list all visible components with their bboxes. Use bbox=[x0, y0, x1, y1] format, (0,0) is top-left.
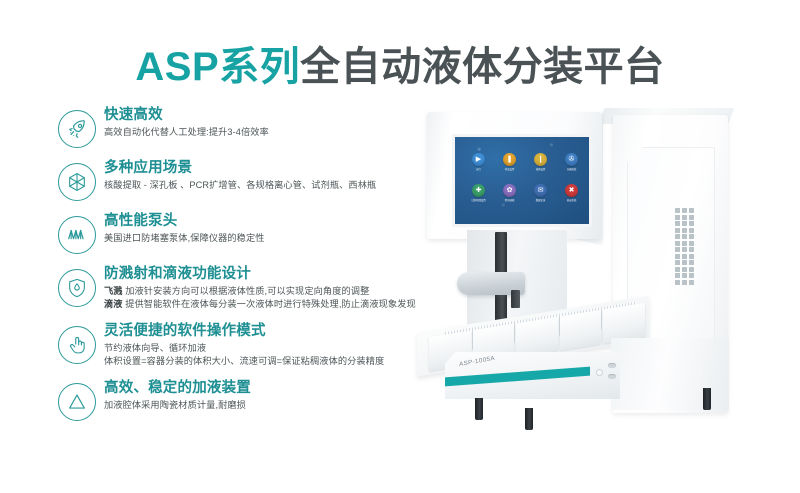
waveform-icon bbox=[58, 216, 96, 254]
feature-item-software: 灵活便捷的软件操作模式 节约液体向导、循环加液 体积设置=容器分装的体积大小、流… bbox=[58, 322, 458, 368]
vial-icon: ❙ bbox=[534, 153, 547, 166]
feature-item-speed: 快速高效 高效自动化代替人工处理:提升3-4倍效率 bbox=[58, 106, 458, 148]
app-label: 程序编辑 bbox=[495, 199, 524, 202]
screen-housing: ▶ 运行 ❚ 样品设置 ❙ 液体设置 ✇ 仪器校准 bbox=[427, 112, 602, 239]
plus-icon: ✚ bbox=[472, 184, 485, 197]
machine-foot bbox=[525, 408, 533, 430]
feature-item-pump: 高性能泵头 美国进口防堵塞泵体,保障仪器的稳定性 bbox=[58, 212, 458, 254]
dispensing-needle bbox=[511, 290, 520, 308]
feature-item-dispenser: 高效、稳定的加液装置 加液腔体采用陶瓷材质计量,耐磨损 bbox=[58, 379, 458, 421]
indicator-knob[interactable] bbox=[596, 369, 603, 376]
app-run[interactable]: ▶ 运行 bbox=[463, 153, 494, 171]
feature-list: 快速高效 高效自动化代替人工处理:提升3-4倍效率 多种应用场景 核酸提取 - … bbox=[58, 106, 458, 432]
gear-icon: ✿ bbox=[503, 184, 516, 197]
rack-block[interactable] bbox=[560, 310, 602, 351]
feature-title: 多种应用场景 bbox=[104, 159, 458, 177]
machine-side-panel bbox=[611, 338, 729, 410]
vent-grille bbox=[675, 208, 694, 292]
feature-subtitle-1: 节约液体向导、循环加液 bbox=[104, 342, 458, 355]
app-label: 数据记录 bbox=[526, 199, 555, 202]
page-title-brand: ASP系列 bbox=[135, 45, 300, 89]
app-icon-grid: ▶ 运行 ❚ 样品设置 ❙ 液体设置 ✇ 仪器校准 bbox=[463, 153, 587, 202]
triangle-icon bbox=[58, 383, 96, 421]
feature-subtitle: 加液腔体采用陶瓷材质计量,耐磨损 bbox=[104, 399, 458, 412]
app-label: 样品设置 bbox=[495, 168, 524, 171]
app-label: 试剂管理设置 bbox=[464, 199, 493, 202]
app-data-records[interactable]: ✉ 数据记录 bbox=[525, 184, 556, 202]
app-label: 退出系统 bbox=[557, 199, 586, 202]
feature-subtitle: 高效自动化代替人工处理:提升3-4倍效率 bbox=[104, 126, 458, 139]
calibrate-icon: ✇ bbox=[565, 153, 578, 166]
records-icon: ✉ bbox=[534, 184, 547, 197]
feature-subtitle: 美国进口防堵塞泵体,保障仪器的稳定性 bbox=[104, 232, 458, 245]
app-reagent-management[interactable]: ✚ 试剂管理设置 bbox=[463, 184, 494, 202]
machine-foot bbox=[703, 388, 711, 410]
page-title: ASP系列全自动液体分装平台 bbox=[0, 34, 800, 92]
service-port[interactable] bbox=[608, 374, 616, 379]
feature-title: 高效、稳定的加液装置 bbox=[104, 379, 458, 397]
touchscreen-display[interactable]: ▶ 运行 ❚ 样品设置 ❙ 液体设置 ✇ 仪器校准 bbox=[452, 134, 592, 227]
machine-foot bbox=[475, 398, 483, 420]
tap-hand-icon bbox=[58, 326, 96, 364]
shield-droplet-icon bbox=[58, 269, 96, 307]
app-liquid-setup[interactable]: ❙ 液体设置 bbox=[525, 153, 556, 171]
cube-icon bbox=[58, 163, 96, 201]
rack-block[interactable] bbox=[516, 317, 558, 358]
app-calibration[interactable]: ✇ 仪器校准 bbox=[556, 153, 587, 171]
feature-item-applications: 多种应用场景 核酸提取 - 深孔板 、PCR扩增管、各规格离心管、试剂瓶、西林瓶 bbox=[58, 159, 458, 201]
feature-subtitle: 核酸提取 - 深孔板 、PCR扩增管、各规格离心管、试剂瓶、西林瓶 bbox=[104, 179, 458, 192]
feature-title: 快速高效 bbox=[104, 106, 458, 124]
play-icon: ▶ bbox=[472, 153, 485, 166]
product-photo-liquid-dispenser: ▶ 运行 ❚ 样品设置 ❙ 液体设置 ✇ 仪器校准 bbox=[415, 100, 790, 460]
app-label: 运行 bbox=[464, 168, 493, 171]
rocket-icon bbox=[58, 110, 96, 148]
close-icon: ✖ bbox=[565, 184, 578, 197]
feature-subtitle-2: 体积设置=容器分装的体积大小、流速可调=保证粘稠液体的分装精度 bbox=[104, 355, 458, 368]
app-label: 仪器校准 bbox=[557, 168, 586, 171]
feature-title: 高性能泵头 bbox=[104, 212, 458, 230]
app-exit[interactable]: ✖ 退出系统 bbox=[556, 184, 587, 202]
drain-port[interactable] bbox=[608, 363, 616, 368]
app-sample-setup[interactable]: ❚ 样品设置 bbox=[494, 153, 525, 171]
feature-subtitle-2: 滴液 提供智能软件在液体每分装一次液体时进行特殊处理,防止滴液现象发现 bbox=[104, 298, 458, 311]
app-program-editor[interactable]: ✿ 程序编辑 bbox=[494, 184, 525, 202]
feature-item-antisplash: 防溅射和滴液功能设计 飞溅 加液针安装方向可以根据液体性质,可以实现定向角度的调… bbox=[58, 265, 458, 311]
app-label: 液体设置 bbox=[526, 168, 555, 171]
feature-title: 防溅射和滴液功能设计 bbox=[104, 265, 458, 283]
feature-subtitle-1: 飞溅 加液针安装方向可以根据液体性质,可以实现定向角度的调整 bbox=[104, 285, 458, 298]
tube-icon: ❚ bbox=[503, 153, 516, 166]
page-title-rest: 全自动液体分装平台 bbox=[300, 45, 665, 89]
feature-title: 灵活便捷的软件操作模式 bbox=[104, 322, 458, 340]
product-infographic: ASP系列全自动液体分装平台 快速高效 高效自动化代替人工处理:提升3-4倍效率 bbox=[0, 0, 800, 493]
